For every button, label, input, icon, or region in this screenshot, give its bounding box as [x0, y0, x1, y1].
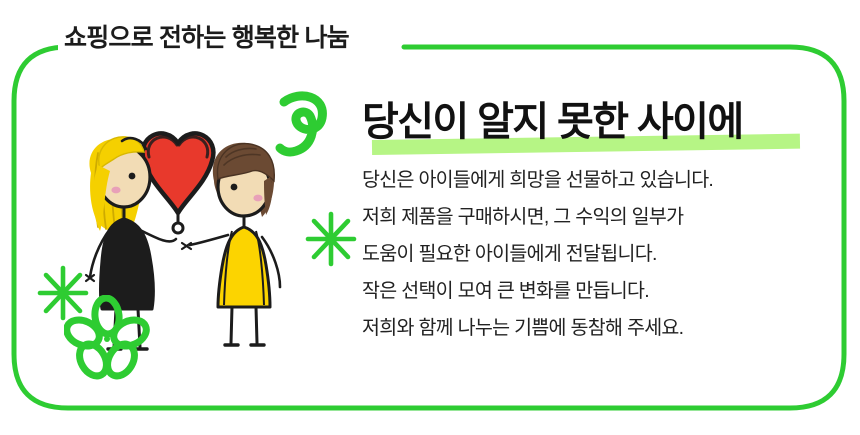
headline-wrapper: 당신이 알지 못한 사이에 — [362, 96, 743, 148]
illustration-svg — [18, 95, 338, 405]
cheek — [253, 195, 262, 202]
banner-body-text: 당신은 아이들에게 희망을 선물하고 있습니다. 저희 제품을 구매하시면, 그… — [362, 162, 832, 347]
right-girl-arm-holding-hand — [190, 235, 228, 245]
eye — [231, 184, 238, 191]
page-title: 당신이 알지 못한 사이에 — [362, 96, 743, 148]
body-line: 작은 선택이 모여 큰 변화를 만듭니다. — [362, 273, 832, 310]
body-line: 도움이 필요한 아이들에게 전달됩니다. — [362, 236, 832, 273]
cheek — [111, 187, 120, 194]
promo-banner: 쇼핑으로 전하는 행복한 나눔 — [0, 0, 860, 435]
body-line: 저희와 함께 나누는 기쁨에 동참해 주세요. — [362, 310, 832, 347]
banner-kicker-title: 쇼핑으로 전하는 행복한 나눔 — [58, 21, 359, 55]
body-line: 당신은 아이들에게 희망을 선물하고 있습니다. — [362, 162, 832, 199]
eye — [129, 173, 136, 180]
heart-speech-balloon — [143, 133, 214, 233]
children-heart-illustration — [18, 95, 338, 405]
banner-text-column: 당신이 알지 못한 사이에 당신은 아이들에게 희망을 선물하고 있습니다. 저… — [362, 96, 832, 347]
body-line: 저희 제품을 구매하시면, 그 수익의 일부가 — [362, 199, 832, 236]
